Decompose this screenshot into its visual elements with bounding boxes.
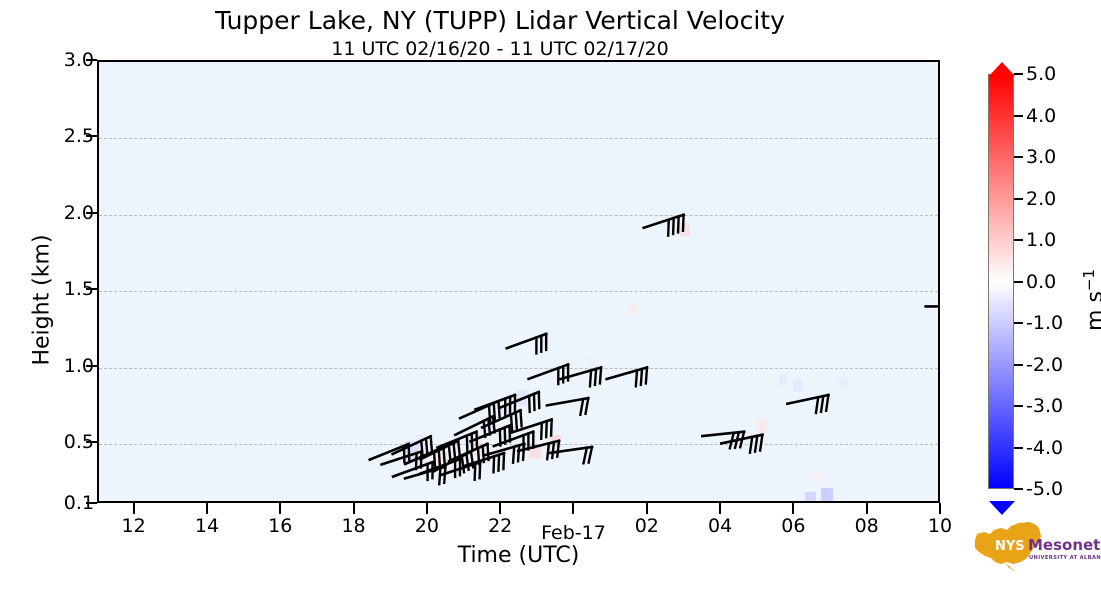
wind-barb bbox=[702, 432, 745, 451]
wind-barb bbox=[550, 447, 594, 468]
velocity-cell bbox=[821, 488, 833, 503]
plot-area bbox=[97, 60, 940, 503]
velocity-cell bbox=[549, 435, 561, 447]
gridline-y bbox=[99, 368, 938, 369]
chart-subtitle: 11 UTC 02/16/20 - 11 UTC 02/17/20 bbox=[0, 38, 1000, 60]
colorbar-tick-label: 4.0 bbox=[1026, 105, 1086, 127]
gridline-y bbox=[99, 444, 938, 445]
x-tick-mark bbox=[646, 503, 648, 514]
wind-barb bbox=[721, 435, 765, 458]
velocity-cell bbox=[758, 419, 767, 433]
colorbar-tick-mark bbox=[1014, 364, 1023, 366]
x-tick-mark bbox=[426, 503, 428, 514]
colorbar-tick-label: 0.0 bbox=[1026, 271, 1086, 293]
velocity-cell bbox=[540, 331, 549, 343]
velocity-cell bbox=[793, 380, 802, 392]
colorbar-tick-label: -2.0 bbox=[1026, 354, 1086, 376]
wind-barb bbox=[484, 444, 529, 470]
x-tick-mark bbox=[206, 503, 208, 514]
colorbar-tick-mark bbox=[1014, 115, 1023, 117]
velocity-cell bbox=[436, 452, 448, 466]
velocity-cell bbox=[779, 374, 787, 386]
x-tick-mark bbox=[572, 503, 574, 514]
wind-barb bbox=[382, 452, 427, 479]
y-axis-label: Height (km) bbox=[30, 170, 55, 430]
colorbar-tick-label: -3.0 bbox=[1026, 395, 1086, 417]
wind-barb bbox=[787, 395, 831, 418]
x-tick-mark bbox=[719, 503, 721, 514]
colorbar-tick-mark bbox=[1014, 322, 1023, 324]
colorbar-extend-max-icon bbox=[989, 62, 1015, 76]
velocity-cell bbox=[529, 445, 541, 459]
colorbar-tick-mark bbox=[1014, 488, 1023, 490]
y-tick-label: 3.0 bbox=[14, 49, 94, 71]
colorbar-tick-mark bbox=[1014, 239, 1023, 241]
velocity-cell bbox=[517, 390, 527, 406]
velocity-cell bbox=[839, 378, 847, 388]
x-tick-mark bbox=[939, 503, 941, 514]
x-tick-mark bbox=[499, 503, 501, 514]
gridline-y bbox=[99, 215, 938, 216]
x-tick-mark bbox=[279, 503, 281, 514]
velocity-cell bbox=[484, 419, 494, 433]
colorbar-tick-label: -5.0 bbox=[1026, 478, 1086, 500]
wind-barb bbox=[464, 453, 509, 480]
lidar-vertical-velocity-figure: Tupper Lake, NY (TUPP) Lidar Vertical Ve… bbox=[0, 0, 1101, 600]
wind-barb bbox=[405, 467, 450, 493]
colorbar-tick-label: 5.0 bbox=[1026, 63, 1086, 85]
velocity-cell bbox=[471, 440, 482, 456]
y-tick-label: 0.5 bbox=[14, 431, 94, 453]
colorbar-tick-mark bbox=[1014, 198, 1023, 200]
velocity-cell bbox=[630, 304, 638, 314]
logo-nys-text: NYS bbox=[995, 539, 1025, 554]
colorbar-gradient bbox=[988, 74, 1014, 489]
colorbar-tick-mark bbox=[1014, 281, 1023, 283]
x-axis-label: Time (UTC) bbox=[97, 543, 940, 568]
wind-barb bbox=[460, 401, 504, 432]
colorbar-unit-label: m s−1 bbox=[1080, 220, 1101, 380]
gridline-y bbox=[99, 291, 938, 292]
colorbar-tick-label: -1.0 bbox=[1026, 312, 1086, 334]
colorbar-tick-mark bbox=[1014, 73, 1023, 75]
velocity-cell bbox=[415, 435, 424, 447]
colorbar-tick-mark bbox=[1014, 156, 1023, 158]
wind-barb-layer bbox=[99, 62, 940, 503]
colorbar-tick-label: 1.0 bbox=[1026, 229, 1086, 251]
velocity-cell bbox=[589, 358, 598, 370]
colorbar-tick-label: -4.0 bbox=[1026, 437, 1086, 459]
x-tick-mark bbox=[792, 503, 794, 514]
colorbar bbox=[988, 60, 1014, 503]
wind-barb bbox=[547, 398, 591, 420]
wind-barb bbox=[393, 462, 438, 490]
nys-mesonet-logo: NYS Mesonet UNIVERSITY AT ALBANY bbox=[961, 518, 1101, 576]
x-tick-mark bbox=[866, 503, 868, 514]
wind-barb bbox=[529, 365, 574, 393]
colorbar-extend-min-icon bbox=[989, 501, 1015, 515]
velocity-cell bbox=[680, 223, 690, 237]
x-tick-mark bbox=[353, 503, 355, 514]
wind-barb bbox=[561, 368, 606, 394]
y-tick-label: 2.5 bbox=[14, 125, 94, 147]
wind-barb bbox=[476, 395, 521, 423]
logo-tagline-text: UNIVERSITY AT ALBANY bbox=[1029, 555, 1101, 561]
colorbar-tick-mark bbox=[1014, 405, 1023, 407]
colorbar-tick-label: 3.0 bbox=[1026, 146, 1086, 168]
logo-mesonet-text: Mesonet bbox=[1028, 536, 1100, 554]
velocity-cell bbox=[814, 473, 821, 482]
gridline-y bbox=[99, 138, 938, 139]
wind-barb bbox=[440, 462, 485, 489]
colorbar-tick-label: 2.0 bbox=[1026, 188, 1086, 210]
velocity-cell bbox=[805, 492, 816, 503]
y-tick-label: 0.1 bbox=[14, 492, 94, 514]
colorbar-tick-mark bbox=[1014, 447, 1023, 449]
x-tick-mark bbox=[133, 503, 135, 514]
chart-title: Tupper Lake, NY (TUPP) Lidar Vertical Ve… bbox=[0, 6, 1000, 35]
velocity-cell bbox=[501, 406, 510, 420]
wind-barb bbox=[607, 368, 652, 394]
